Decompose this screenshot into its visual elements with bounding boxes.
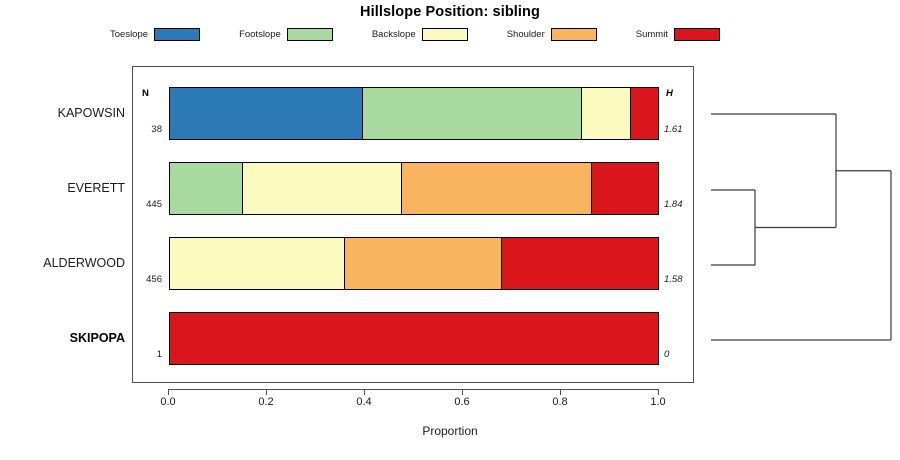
legend-swatch-summit [674,28,720,41]
category-label-everett: EVERETT [0,181,125,195]
legend-swatch-backslope [422,28,468,41]
bar-segment-backslope[interactable] [582,88,631,139]
legend-label: Toeslope [110,29,148,40]
bar-segment-backslope[interactable] [243,163,403,214]
bar-segment-footslope[interactable] [363,88,583,139]
category-label-alderwood: ALDERWOOD [0,256,125,270]
legend-label: Summit [636,29,668,40]
legend-label: Shoulder [507,29,545,40]
bar-segment-summit[interactable] [502,238,658,289]
h-value-everett: 1.84 [664,199,694,210]
legend-entry-shoulder[interactable]: Shoulder [507,28,597,41]
h-column-header: H [666,88,673,99]
n-value-everett: 445 [132,199,162,210]
category-label-skipopa: SKIPOPA [0,331,125,345]
page-title: Hillslope Position: sibling [0,4,900,20]
h-value-alderwood: 1.58 [664,274,694,285]
bar-segment-shoulder[interactable] [402,163,592,214]
legend-entry-backslope[interactable]: Backslope [372,28,468,41]
legend-swatch-shoulder [551,28,597,41]
n-value-kapowsin: 38 [132,124,162,135]
legend-entry-summit[interactable]: Summit [636,28,720,41]
bar-segment-shoulder[interactable] [345,238,502,289]
h-value-kapowsin: 1.61 [664,124,694,135]
x-axis-tick [364,389,365,395]
hillslope-position-chart: Hillslope Position: sibling ToeslopeFoot… [0,0,900,460]
x-axis-tick [266,389,267,395]
stacked-bar-kapowsin[interactable] [169,87,659,140]
x-axis-tick [560,389,561,395]
legend-entry-footslope[interactable]: Footslope [239,28,333,41]
category-label-kapowsin: KAPOWSIN [0,106,125,120]
legend-swatch-footslope [287,28,333,41]
x-axis-tick-label: 0.4 [344,396,384,408]
x-axis-tick-label: 0.8 [540,396,580,408]
bar-segment-toeslope[interactable] [170,88,363,139]
x-axis-tick [168,389,169,395]
bar-segment-summit[interactable] [631,88,658,139]
stacked-bar-alderwood[interactable] [169,237,659,290]
bar-segment-summit[interactable] [170,313,658,364]
bar-row [169,237,659,290]
n-value-skipopa: 1 [132,349,162,360]
dendrogram [700,60,900,390]
x-axis-tick-label: 0.6 [442,396,482,408]
x-axis-line [168,389,658,390]
legend: ToeslopeFootslopeBackslopeShoulderSummit [110,25,720,43]
stacked-bar-everett[interactable] [169,162,659,215]
legend-label: Backslope [372,29,416,40]
plot-panel [132,66,694,383]
x-axis-title: Proportion [0,424,900,438]
bar-segment-summit[interactable] [592,163,658,214]
n-column-header: N [142,88,149,99]
x-axis-tick [462,389,463,395]
stacked-bar-skipopa[interactable] [169,312,659,365]
x-axis-tick-label: 1.0 [638,396,678,408]
bar-segment-backslope[interactable] [170,238,345,289]
x-axis-tick [658,389,659,395]
h-value-skipopa: 0 [664,349,694,360]
x-axis-tick-label: 0.0 [148,396,188,408]
bar-row [169,162,659,215]
bar-segment-footslope[interactable] [170,163,243,214]
n-value-alderwood: 456 [132,274,162,285]
legend-label: Footslope [239,29,281,40]
legend-swatch-toeslope [154,28,200,41]
legend-entry-toeslope[interactable]: Toeslope [110,28,200,41]
x-axis-tick-label: 0.2 [246,396,286,408]
bar-row [169,312,659,365]
bar-row [169,87,659,140]
